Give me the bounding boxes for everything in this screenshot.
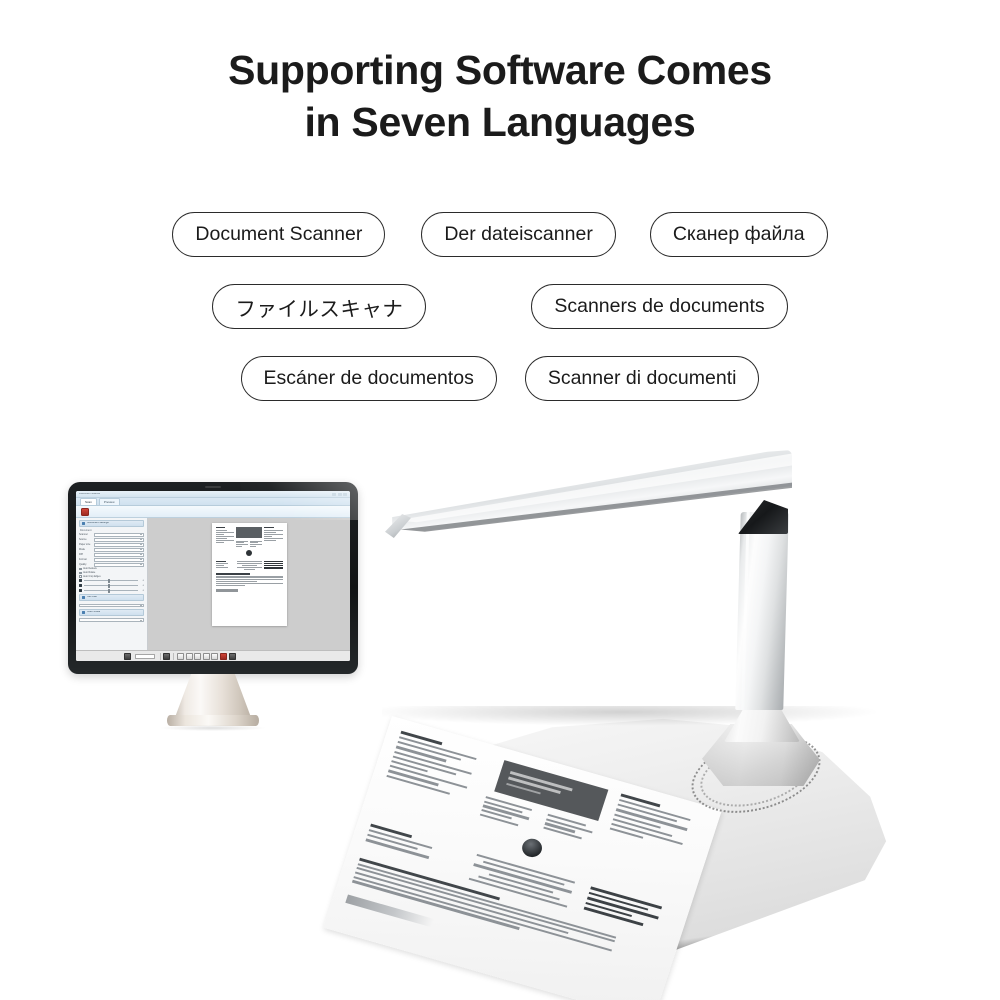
field-quality-label: Quality: [79, 564, 92, 566]
window-controls: [332, 493, 347, 496]
app-title: Document Scanner: [79, 493, 100, 496]
preview-line: [250, 546, 255, 547]
rotate-right-icon[interactable]: [186, 653, 193, 660]
preview-line: [250, 544, 262, 545]
scanner-support-column: [735, 512, 789, 710]
toolbar-divider: [173, 653, 174, 660]
preview-line: [216, 536, 235, 537]
field-dpi-select[interactable]: [94, 553, 145, 557]
preview-line: [264, 561, 282, 562]
preview-column-center-2: [237, 561, 262, 570]
field-format[interactable]: Format: [79, 558, 144, 562]
preview-line: [250, 542, 257, 543]
preview-line: [216, 540, 235, 541]
maximize-icon[interactable]: [338, 493, 342, 496]
preview-column-center: [236, 527, 262, 558]
scan-action-icon[interactable]: [81, 508, 89, 516]
app-bottom-toolbar: [76, 650, 350, 661]
language-pill-english: Document Scanner: [172, 212, 385, 257]
field-mode[interactable]: Mode: [79, 548, 144, 552]
preview-heading: [264, 527, 273, 528]
checkbox-auto-deskew-label: Auto Deskew: [83, 568, 97, 570]
checkbox-auto-crop-label: Auto Crop Edges: [83, 576, 101, 578]
preview-top-section: [216, 527, 283, 558]
preview-line: [236, 544, 248, 545]
language-pill-spanish: Escáner de documentos: [241, 356, 497, 401]
slider-gamma-value: 0: [139, 590, 144, 592]
preview-name-block: [236, 527, 262, 538]
language-pill-row-2: ファイルスキャナ Scanners de documents: [0, 284, 1000, 329]
preview-column-right: [264, 527, 282, 558]
preview-line: [264, 565, 282, 566]
slider-contrast[interactable]: 0: [79, 584, 144, 587]
preview-line: [216, 567, 228, 568]
checkbox-auto-deskew[interactable]: Auto Deskew: [79, 568, 144, 571]
slider-contrast-track[interactable]: [84, 585, 138, 586]
preview-line: [236, 541, 248, 542]
field-paper-size-label: Paper size: [79, 544, 92, 546]
checkbox-icon[interactable]: [79, 572, 82, 575]
preview-line: [264, 532, 275, 533]
preview-line: [216, 563, 228, 564]
slider-brightness-knob[interactable]: [108, 579, 110, 583]
field-dpi[interactable]: DPI: [79, 553, 144, 557]
preview-line: [216, 583, 283, 584]
monitor-bezel: Document Scanner Scan Preview: [68, 482, 358, 674]
field-format-select[interactable]: [94, 558, 145, 562]
section-marker-icon: [82, 611, 85, 614]
language-pill-japanese: ファイルスキャナ: [212, 284, 426, 329]
field-scanner-select[interactable]: [94, 533, 145, 537]
preview-line: [236, 542, 243, 543]
preview-line: [216, 585, 245, 586]
panel-heading-file-path: File Path: [79, 594, 144, 601]
slider-brightness[interactable]: 0: [79, 579, 144, 582]
field-scanner[interactable]: Scanner: [79, 533, 144, 537]
computer-monitor: Document Scanner Scan Preview: [68, 482, 358, 674]
slider-gamma[interactable]: 0: [79, 589, 144, 592]
product-feature-banner: Supporting Software Comes in Seven Langu…: [0, 0, 1000, 1000]
language-pill-row-1: Document Scanner Der dateiscanner Сканер…: [0, 212, 1000, 257]
resume-line: [587, 897, 659, 920]
panel-heading-color-mode-label: Color Mode: [87, 611, 101, 614]
preview-column-left: [216, 527, 235, 558]
preview-line: [237, 567, 262, 568]
rotate-left-icon[interactable]: [177, 653, 184, 660]
preview-avatar: [246, 550, 252, 556]
zoom-out-icon[interactable]: [211, 653, 218, 660]
crop-icon[interactable]: [163, 653, 170, 660]
preview-minicolumn: [250, 541, 262, 547]
preview-line: [236, 546, 241, 547]
monitor-shadow: [161, 725, 265, 731]
checkbox-icon[interactable]: [79, 575, 82, 578]
document-preview[interactable]: [212, 523, 287, 626]
panel-heading-color-mode: Color Mode: [79, 609, 144, 616]
field-format-label: Format: [79, 559, 92, 561]
preview-heading: [216, 573, 251, 574]
preview-line: [237, 561, 262, 562]
checkbox-icon[interactable]: [79, 568, 82, 571]
preview-heading: [216, 527, 226, 528]
gamma-icon: [79, 589, 82, 592]
preview-line: [264, 540, 275, 541]
field-color-mode[interactable]: [79, 618, 144, 622]
brightness-icon: [79, 579, 82, 582]
preview-line: [264, 530, 282, 531]
slider-brightness-track[interactable]: [84, 580, 138, 581]
preview-bottom-section: [216, 573, 283, 592]
preview-line: [264, 536, 272, 537]
field-quality[interactable]: Quality: [79, 563, 144, 567]
preview-line: [264, 534, 282, 535]
preview-line: [264, 563, 282, 564]
preview-line: [216, 581, 258, 582]
field-file-path-input[interactable]: [79, 604, 144, 608]
page-title-line1: Supporting Software Comes: [228, 47, 772, 93]
app-tab-bar: Scan Preview: [76, 498, 350, 506]
preview-canvas[interactable]: [148, 518, 350, 661]
field-source-label: Source: [79, 539, 92, 541]
language-pill-italian: Scanner di documenti: [525, 356, 760, 401]
preview-line: [264, 538, 282, 539]
document-scanner-device: [372, 448, 917, 958]
minimize-icon[interactable]: [332, 493, 336, 496]
preview-line: [216, 532, 235, 533]
preview-line: [264, 567, 282, 568]
preview-line: [237, 563, 262, 564]
export-icon[interactable]: [229, 653, 236, 660]
field-file-path[interactable]: [79, 604, 144, 608]
scan-button[interactable]: [124, 653, 131, 660]
resume-column-left: [373, 731, 491, 843]
checkbox-auto-crop[interactable]: Auto Crop Edges: [79, 575, 144, 578]
preview-heading: [216, 561, 226, 562]
slider-brightness-value: 0: [139, 580, 144, 582]
field-color-mode-select[interactable]: [79, 618, 144, 622]
preview-column-right-2: [264, 561, 282, 570]
page-title: Supporting Software Comes in Seven Langu…: [0, 44, 1000, 149]
panel-heading-document-settings: Document settings: [79, 520, 144, 527]
field-source-select[interactable]: [94, 538, 145, 542]
preview-minicolumns: [236, 541, 262, 547]
contrast-icon: [79, 584, 82, 587]
field-scanner-label: Scanner: [79, 534, 92, 536]
app-ribbon: [76, 506, 350, 518]
preview-column-left-2: [216, 561, 235, 570]
language-pill-group: Document Scanner Der dateiscanner Сканер…: [0, 212, 1000, 401]
preview-mid-section: [216, 561, 283, 570]
field-source[interactable]: Source: [79, 538, 144, 542]
preview-line: [250, 541, 262, 542]
language-pill-russian: Сканер файла: [650, 212, 828, 257]
scanner-base-shadow: [382, 706, 882, 726]
preview-signature: [216, 589, 238, 592]
monitor-neck: [174, 674, 252, 720]
field-paper-size[interactable]: Paper size: [79, 543, 144, 547]
tab-scan[interactable]: Scan: [80, 498, 97, 505]
field-mode-select[interactable]: [94, 548, 145, 552]
flip-icon[interactable]: [194, 653, 201, 660]
scanner-camera-arm: [384, 450, 792, 536]
preview-line: [216, 530, 228, 531]
resume-column-right: [593, 793, 705, 903]
field-dpi-label: DPI: [79, 554, 92, 556]
webcam-icon: [205, 486, 221, 488]
language-pill-german: Der dateiscanner: [421, 212, 616, 257]
preview-line: [216, 577, 283, 578]
preview-line: [216, 576, 283, 577]
field-paper-size-select[interactable]: [94, 543, 145, 547]
monitor-screen: Document Scanner Scan Preview: [76, 491, 350, 661]
app-body: Document settings Document Scanner Sourc…: [76, 518, 350, 661]
preview-line: [216, 534, 224, 535]
toolbar-divider: [160, 653, 161, 660]
zoom-in-icon[interactable]: [203, 653, 210, 660]
delete-icon[interactable]: [220, 653, 227, 660]
close-icon[interactable]: [343, 493, 347, 496]
section-marker-icon: [82, 522, 85, 525]
preview-line: [216, 565, 225, 566]
slider-contrast-knob[interactable]: [108, 584, 110, 588]
panel-heading-label: Document settings: [87, 522, 109, 525]
settings-panel: Document settings Document Scanner Sourc…: [76, 518, 148, 661]
checkbox-auto-rotate-label: Auto Rotate: [83, 572, 95, 574]
section-marker-icon: [82, 596, 85, 599]
tab-preview[interactable]: Preview: [99, 498, 120, 505]
checkbox-auto-rotate[interactable]: Auto Rotate: [79, 572, 144, 575]
language-pill-row-3: Escáner de documentos Scanner di documen…: [0, 356, 1000, 401]
preview-line: [216, 538, 228, 539]
app-titlebar: Document Scanner: [76, 491, 350, 498]
resume-avatar: [520, 837, 545, 860]
preview-line: [244, 569, 255, 570]
field-quality-select[interactable]: [94, 563, 145, 567]
zoom-value-field[interactable]: [135, 654, 155, 659]
panel-subheading: Document: [80, 530, 144, 533]
slider-gamma-knob[interactable]: [108, 589, 110, 593]
slider-contrast-value: 0: [139, 585, 144, 587]
preview-line: [216, 579, 283, 580]
field-mode-label: Mode: [79, 549, 92, 551]
slider-gamma-track[interactable]: [84, 590, 138, 591]
preview-minicolumn: [236, 541, 248, 547]
language-pill-french: Scanners de documents: [531, 284, 787, 329]
preview-line: [242, 565, 258, 566]
panel-heading-file-path-label: File Path: [87, 596, 98, 599]
preview-line: [216, 542, 224, 543]
page-title-line2: in Seven Languages: [0, 96, 1000, 148]
